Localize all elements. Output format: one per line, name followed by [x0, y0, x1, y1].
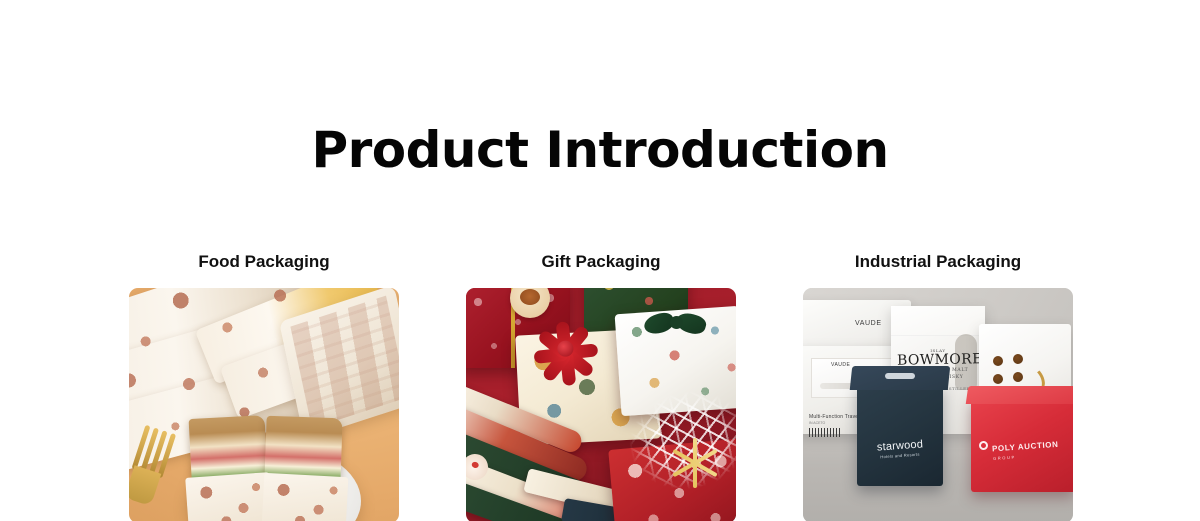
sandwich-wrapper [262, 473, 349, 521]
box-lid [891, 306, 985, 336]
box-label-vaude-top: VAUDE [855, 320, 882, 327]
product-box-starwood: starwood Hotels and Resorts [857, 384, 943, 486]
red-bow-icon [544, 328, 601, 381]
product-card-gift-packaging[interactable]: Gift Packaging [466, 252, 736, 521]
product-photo-food-packaging[interactable] [129, 288, 399, 521]
card-heading-gift-packaging: Gift Packaging [466, 252, 736, 272]
sandwich-wrapper [185, 473, 273, 521]
box-top [966, 386, 1073, 404]
box-label-multi-function-sub: IN ACETO [809, 421, 825, 425]
product-category-grid: Food Packaging [129, 252, 1073, 521]
snowflake-icon [670, 438, 720, 488]
sandwich-stack [191, 413, 351, 513]
product-photo-industrial-packaging[interactable]: VAUDE VAUDE Multi-Function Travel IN ACE… [803, 288, 1073, 521]
product-card-food-packaging[interactable]: Food Packaging [129, 252, 399, 521]
card-heading-food-packaging: Food Packaging [129, 252, 399, 272]
product-photo-gift-packaging[interactable] [466, 288, 736, 521]
page-title: Product Introduction [0, 123, 1200, 178]
barcode-icon [809, 428, 841, 437]
product-card-industrial-packaging[interactable]: Industrial Packaging VAUDE VAUDE Multi-F… [803, 252, 1073, 521]
box-handle [885, 373, 915, 379]
green-bow-icon [644, 310, 708, 338]
box-label-multi-function: Multi-Function Travel [809, 414, 860, 420]
product-introduction-page: Product Introduction Food Packaging [0, 0, 1200, 521]
product-box-poly-auction: POLY AUCTION GROUP [971, 398, 1073, 492]
card-heading-industrial-packaging: Industrial Packaging [803, 252, 1073, 272]
box-label-vaude-window: VAUDE [831, 362, 850, 368]
